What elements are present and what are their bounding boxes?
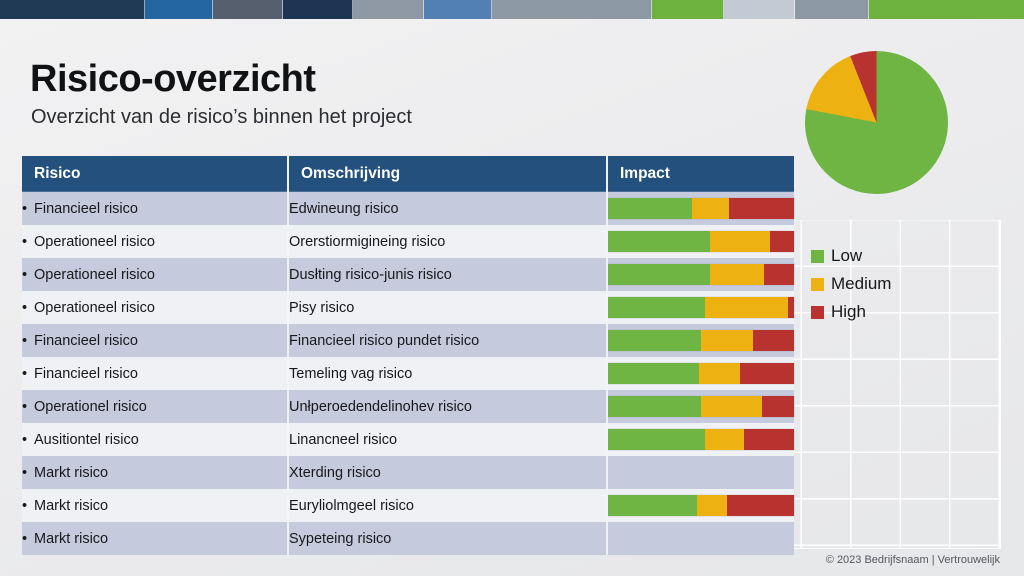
- legend-swatch-icon: [811, 278, 824, 291]
- risico-label: Ausitiontel risico: [34, 432, 139, 448]
- impact-bar: [608, 528, 794, 549]
- chart-legend: LowMediumHigh: [811, 242, 891, 326]
- bullet-icon: •: [22, 465, 34, 481]
- cell-omschrijving: Unłperoedendelinohev risico: [288, 390, 607, 423]
- cell-risico: •Operationeel risico: [22, 291, 288, 324]
- topbar-segment-2: [145, 0, 213, 19]
- impact-segment-low: [608, 198, 692, 219]
- legend-swatch-icon: [811, 250, 824, 263]
- page-subtitle: Overzicht van de risico’s binnen het pro…: [31, 106, 412, 129]
- impact-bar: [608, 495, 794, 516]
- impact-segment-high: [770, 231, 794, 252]
- cell-impact: [607, 522, 794, 555]
- impact-segment-high: [744, 429, 794, 450]
- topbar-segment-8: [652, 0, 724, 19]
- table-header-row: Risico Omschrijving Impact: [22, 156, 794, 192]
- table-row[interactable]: •Markt risicoSypeteing risico: [22, 522, 794, 555]
- risico-label: Financieel risico: [34, 201, 138, 217]
- table-body: •Financieel risicoEdwineung risico•Opera…: [22, 192, 794, 555]
- risico-label: Financieel risico: [34, 333, 138, 349]
- impact-bar: [608, 396, 794, 417]
- risico-label: Markt risico: [34, 465, 108, 481]
- impact-bar: [608, 198, 794, 219]
- impact-segment-high: [788, 297, 794, 318]
- impact-segment-low: [608, 264, 710, 285]
- cell-impact: [607, 324, 794, 357]
- risk-table: Risico Omschrijving Impact •Financieel r…: [22, 156, 794, 555]
- impact-segment-low: [608, 297, 705, 318]
- table-row[interactable]: •Operationeel risicoOrerstiormigineing r…: [22, 225, 794, 258]
- cell-impact: [607, 489, 794, 522]
- table-row[interactable]: •Operationeel risicoDusłting risico-juni…: [22, 258, 794, 291]
- cell-impact: [607, 423, 794, 456]
- impact-segment-high: [729, 198, 794, 219]
- legend-item[interactable]: High: [811, 298, 891, 326]
- column-header-risico: Risico: [22, 156, 288, 192]
- bullet-icon: •: [22, 432, 34, 448]
- impact-segment-medium: [705, 429, 744, 450]
- impact-segment-medium: [701, 396, 762, 417]
- impact-segment-medium: [710, 264, 764, 285]
- cell-risico: •Operationeel risico: [22, 258, 288, 291]
- cell-risico: •Financieel risico: [22, 357, 288, 390]
- cell-impact: [607, 258, 794, 291]
- topbar-segment-1: [0, 0, 145, 19]
- cell-omschrijving: Pisy risico: [288, 291, 607, 324]
- cell-impact: [607, 225, 794, 258]
- cell-omschrijving: Sypeteing risico: [288, 522, 607, 555]
- risico-label: Markt risico: [34, 498, 108, 514]
- cell-omschrijving: Linancneel risico: [288, 423, 607, 456]
- impact-bar: [608, 462, 794, 483]
- impact-bar: [608, 264, 794, 285]
- topbar-segment-9: [724, 0, 795, 19]
- cell-risico: •Financieel risico: [22, 324, 288, 357]
- impact-bar: [608, 231, 794, 252]
- impact-segment-low: [608, 363, 699, 384]
- cell-omschrijving: Dusłting risico-junis risico: [288, 258, 607, 291]
- impact-segment-high: [727, 495, 794, 516]
- risico-label: Operationel risico: [34, 399, 147, 415]
- risico-label: Financieel risico: [34, 366, 138, 382]
- cell-risico: •Ausitiontel risico: [22, 423, 288, 456]
- bullet-icon: •: [22, 531, 34, 547]
- risico-label: Operationeel risico: [34, 267, 155, 283]
- bullet-icon: •: [22, 267, 34, 283]
- impact-segment-low: [608, 396, 701, 417]
- bullet-icon: •: [22, 201, 34, 217]
- impact-pie-chart: [805, 51, 948, 194]
- cell-omschrijving: Financieel risico pundet risico: [288, 324, 607, 357]
- bullet-icon: •: [22, 366, 34, 382]
- impact-segment-medium: [705, 297, 789, 318]
- impact-segment-low: [608, 330, 701, 351]
- bullet-icon: •: [22, 498, 34, 514]
- topbar-segment-11: [869, 0, 1024, 19]
- table-row[interactable]: •Financieel risicoTemeling vag risico: [22, 357, 794, 390]
- impact-segment-medium: [692, 198, 729, 219]
- impact-segment-high: [762, 396, 794, 417]
- legend-swatch-icon: [811, 306, 824, 319]
- cell-risico: •Operationeel risico: [22, 225, 288, 258]
- impact-segment-low: [608, 429, 705, 450]
- table-row[interactable]: •Operationeel risicoPisy risico: [22, 291, 794, 324]
- table-head: Risico Omschrijving Impact: [22, 156, 794, 192]
- impact-bar: [608, 363, 794, 384]
- impact-bar: [608, 429, 794, 450]
- column-header-omschrijving: Omschrijving: [288, 156, 607, 192]
- cell-omschrijving: Xterding risico: [288, 456, 607, 489]
- table-row[interactable]: •Markt risicoXterding risico: [22, 456, 794, 489]
- table-row[interactable]: •Markt risicoEurуliolmgeel risico: [22, 489, 794, 522]
- risico-label: Operationeel risico: [34, 300, 155, 316]
- cell-omschrijving: Eurуliolmgeel risico: [288, 489, 607, 522]
- cell-impact: [607, 390, 794, 423]
- table-row[interactable]: •Financieel risicoEdwineung risico: [22, 192, 794, 225]
- table-row[interactable]: •Operationel risicoUnłperoedendelinohev …: [22, 390, 794, 423]
- impact-segment-high: [764, 264, 794, 285]
- cell-impact: [607, 291, 794, 324]
- column-header-impact: Impact: [607, 156, 794, 192]
- topbar-segment-5: [353, 0, 424, 19]
- impact-segment-medium: [697, 495, 727, 516]
- cell-omschrijving: Edwineung risico: [288, 192, 607, 225]
- legend-item[interactable]: Medium: [811, 270, 891, 298]
- cell-risico: •Financieel risico: [22, 192, 288, 225]
- topbar-segment-7: [492, 0, 652, 19]
- cell-risico: •Operationel risico: [22, 390, 288, 423]
- cell-impact: [607, 357, 794, 390]
- cell-risico: •Markt risico: [22, 456, 288, 489]
- bullet-icon: •: [22, 333, 34, 349]
- cell-impact: [607, 192, 794, 225]
- cell-omschrijving: Temeling vag risico: [288, 357, 607, 390]
- impact-bar: [608, 330, 794, 351]
- page-title: Risico-overzicht: [30, 58, 316, 101]
- topbar-segment-10: [795, 0, 869, 19]
- cell-impact: [607, 456, 794, 489]
- table-row[interactable]: •Ausitiontel risicoLinancneel risico: [22, 423, 794, 456]
- topbar-segment-6: [424, 0, 492, 19]
- impact-segment-high: [753, 330, 794, 351]
- risico-label: Operationeel risico: [34, 234, 155, 250]
- legend-label: High: [831, 302, 866, 322]
- cell-omschrijving: Orerstiormigineing risico: [288, 225, 607, 258]
- topbar-segment-3: [213, 0, 283, 19]
- impact-segment-high: [740, 363, 794, 384]
- bullet-icon: •: [22, 399, 34, 415]
- impact-bar: [608, 297, 794, 318]
- legend-label: Low: [831, 246, 862, 266]
- top-color-strip: [0, 0, 1024, 19]
- risico-label: Markt risico: [34, 531, 108, 547]
- footer-text: © 2023 Bedrijfsnaam | Vertrouwelijk: [826, 554, 1000, 566]
- impact-segment-low: [608, 495, 697, 516]
- bullet-icon: •: [22, 234, 34, 250]
- impact-segment-medium: [710, 231, 770, 252]
- cell-risico: •Markt risico: [22, 489, 288, 522]
- impact-segment-low: [608, 231, 710, 252]
- legend-item[interactable]: Low: [811, 242, 891, 270]
- cell-risico: •Markt risico: [22, 522, 288, 555]
- legend-label: Medium: [831, 274, 891, 294]
- table-row[interactable]: •Financieel risicoFinancieel risico pund…: [22, 324, 794, 357]
- impact-segment-medium: [701, 330, 753, 351]
- impact-segment-medium: [699, 363, 740, 384]
- slide-canvas: Risico-overzicht Overzicht van de risico…: [0, 0, 1024, 576]
- topbar-segment-4: [283, 0, 353, 19]
- bullet-icon: •: [22, 300, 34, 316]
